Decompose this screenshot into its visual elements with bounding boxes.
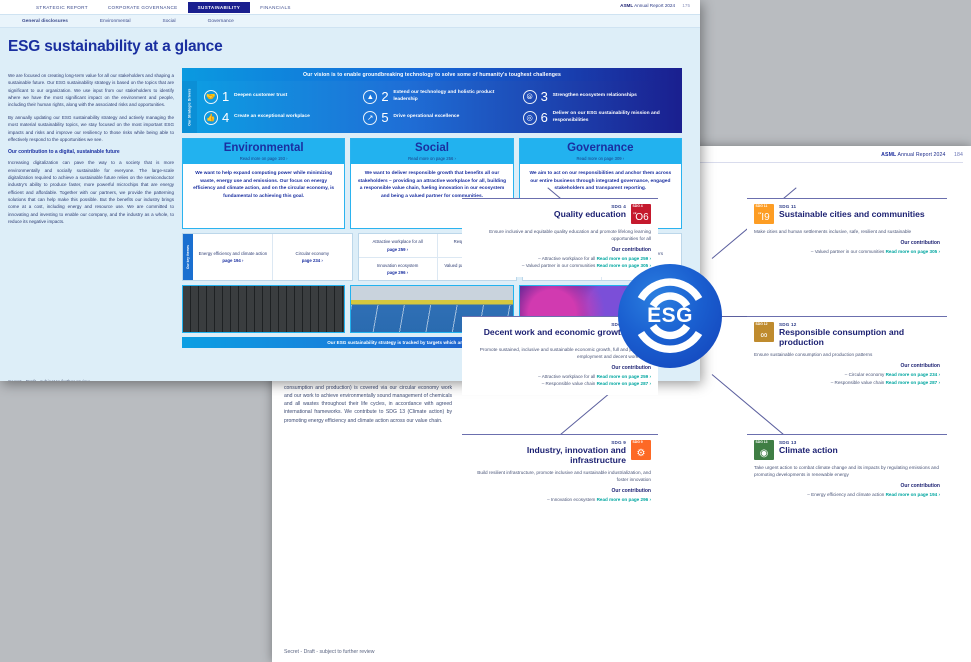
theme-page-link[interactable]: page 194 › (197, 258, 269, 263)
sdg-card-11-name: Sustainable cities and communities (779, 209, 925, 219)
sdg-card-11-link-1[interactable]: – Valued partner in our communities Read… (754, 248, 940, 255)
sdg-card-12-description: Ensure sustainable consumption and produ… (754, 351, 940, 358)
driver-5[interactable]: ↗ 5 Drive operational excellence (359, 107, 518, 128)
solar-panel-texture (183, 286, 344, 332)
driver-4-number: 4 (222, 111, 230, 124)
city-icon: Ἵ9 (754, 213, 774, 223)
subnav-item-governance[interactable]: Governance (208, 19, 248, 24)
driver-2-label: Extend our technology and holistic produ… (393, 90, 514, 102)
primary-nav: STRATEGIC REPORT CORPORATE GOVERNANCE SU… (0, 0, 700, 14)
driver-2-number: 2 (381, 90, 389, 103)
theme-column: Circular economy page 234 › (273, 234, 352, 280)
sdg-4-icon: SDG 4 Ὅ6 (631, 204, 651, 224)
network-icon: ⦾ (523, 90, 537, 104)
esg-hub-logo: ESG (618, 264, 722, 368)
pillar-environmental-head: Environmental Read more on page 193 › (183, 139, 344, 164)
handshake-icon: 🤝 (204, 90, 218, 104)
driver-2[interactable]: ▲ 2 Extend our technology and holistic p… (359, 86, 518, 107)
sdg-card-12-head: SDG 12 ∞ SDG 12 Responsible consumption … (754, 322, 940, 347)
driver-1-label: Deepen customer trust (234, 93, 287, 99)
link-prefix: – Valued partner in our communities (522, 263, 597, 268)
theme-cell-attractive-workplace[interactable]: Attractive workplace for all page 259 › (359, 234, 438, 258)
sdg-card-13-link-1[interactable]: – Energy efficiency and climate action R… (754, 491, 940, 498)
read-more-link[interactable]: Read more on page 194 › (886, 492, 940, 497)
page1-page-number: 175 (682, 3, 690, 8)
climate-icon: ◉ (754, 449, 774, 459)
theme-page-link[interactable]: page 259 › (362, 247, 434, 252)
sdg-card-9[interactable]: SDG 9 ⚙ SDG 9 Industry, innovation and i… (462, 434, 658, 511)
driver-1[interactable]: 🤝 1 Deepen customer trust (200, 86, 359, 107)
driver-6[interactable]: ◎ 6 Deliver on our ESG sustainability mi… (519, 107, 678, 128)
sdg-card-11-titles: SDG 11 Sustainable cities and communitie… (779, 204, 925, 219)
read-more-link[interactable]: Read more on page 305 › (886, 249, 940, 254)
theme-name: Attractive workplace for all (362, 239, 434, 245)
strategic-drivers-panel: Our Strategic Drivers 🤝 1 Deepen custome… (182, 81, 682, 133)
sdg-card-13-name: Climate action (779, 445, 838, 455)
sdg-card-12-link-1[interactable]: – Circular economy Read more on page 234… (754, 371, 940, 378)
sdg-card-4-contribution-label: Our contribution (469, 247, 651, 253)
driver-4[interactable]: 👍 4 Create an exceptional workplace (200, 107, 359, 128)
intro-paragraph-2: By annually updating our ESG sustainabil… (8, 114, 174, 143)
read-more-link[interactable]: Read more on page 234 › (886, 372, 940, 377)
page1-brand-name: ASML (620, 3, 633, 8)
theme-column: Energy efficiency and climate action pag… (194, 234, 273, 280)
link-prefix: – Circular economy (845, 372, 886, 377)
nav-tab-strategic-report[interactable]: STRATEGIC REPORT (26, 2, 98, 13)
pillar-environmental-title: Environmental (183, 142, 344, 155)
pillar-governance-link[interactable]: Read more on page 309 › (520, 156, 681, 161)
page2-report-name: Annual Report 2024 (898, 152, 946, 158)
theme-name: Energy efficiency and climate action (197, 251, 269, 257)
chart-up-icon: ↗ (363, 111, 377, 125)
sdg-card-8-titles: SDG 8 Decent work and economic growth (484, 322, 626, 337)
secondary-nav: General disclosures Environmental Social… (0, 14, 700, 28)
driver-3-number: 3 (541, 90, 549, 103)
link-prefix: – Attractive workplace for all (538, 256, 596, 261)
book-icon: Ὅ6 (631, 213, 651, 223)
driver-5-label: Drive operational excellence (393, 114, 459, 120)
theme-group-environmental: Our key themes Energy efficiency and cli… (182, 233, 353, 281)
layers-icon: ▲ (363, 90, 377, 104)
pillar-governance-head: Governance Read more on page 309 › (520, 139, 681, 164)
sdg-card-13-description: Take urgent action to combat climate cha… (754, 464, 940, 478)
theme-cell-energy-efficiency[interactable]: Energy efficiency and climate action pag… (194, 234, 273, 280)
page2-brand-header: ASML Annual Report 2024 184 (881, 152, 963, 158)
pillar-environmental-body: We want to help expand computing power w… (183, 164, 344, 228)
page2-footer-note: Secret - Draft - subject to further revi… (284, 649, 375, 655)
pillar-social-head: Social Read more on page 256 › (351, 139, 512, 164)
page-title-band: ESG sustainability at a glance (0, 28, 700, 66)
intro-paragraph-1: We are focused on creating long-term val… (8, 72, 174, 109)
strategic-drivers-side-label: Our Strategic Drivers (182, 81, 197, 133)
themes-side-text: Our key themes (186, 245, 190, 269)
sdg-card-4-head: SDG 4 Ὅ6 SDG 4 Quality education (469, 204, 651, 224)
read-more-link[interactable]: Read more on page 287 › (886, 380, 940, 385)
theme-page-link[interactable]: page 234 › (276, 258, 349, 263)
sdg-card-4-titles: SDG 4 Quality education (554, 204, 626, 219)
sdg-card-9-head: SDG 9 ⚙ SDG 9 Industry, innovation and i… (469, 440, 651, 465)
sdg-card-12-name: Responsible consumption and production (779, 327, 940, 347)
pillar-environmental[interactable]: Environmental Read more on page 193 › We… (182, 138, 345, 229)
sdg-9-icon-num: SDG 9 (633, 441, 643, 445)
theme-name: Innovation ecosystem (362, 263, 434, 269)
nav-tab-financials[interactable]: FINANCIALS (250, 2, 301, 13)
theme-cell-circular-economy[interactable]: Circular economy page 234 › (273, 234, 352, 280)
intro-paragraph-3: Increasing digitalization can pave the w… (8, 159, 174, 225)
subnav-item-general-disclosures[interactable]: General disclosures (22, 19, 82, 24)
sdg-card-8-name: Decent work and economic growth (484, 327, 626, 337)
link-prefix: – Valued partner in our communities (811, 249, 886, 254)
solar-panel-field-photo (182, 285, 345, 333)
read-more-link[interactable]: Read more on page 259 › (597, 374, 651, 379)
page2-brand-name: ASML (881, 152, 896, 158)
subnav-item-social[interactable]: Social (163, 19, 190, 24)
sdg-card-11-description: Make cities and human settlements inclus… (754, 228, 940, 235)
gear-icon: ⚙ (631, 449, 651, 459)
sdg-card-12-contribution-label: Our contribution (754, 363, 940, 369)
driver-6-label: Deliver on our ESG sustainability missio… (553, 111, 674, 123)
page2-page-number: 184 (954, 152, 963, 158)
thumbs-up-icon: 👍 (204, 111, 218, 125)
sdg-card-12-titles: SDG 12 Responsible consumption and produ… (779, 322, 940, 347)
sdg-card-13-head: SDG 13 ◉ SDG 13 Climate action (754, 440, 940, 460)
sdg-card-8-link-2[interactable]: – Responsible value chain Read more on p… (469, 380, 651, 387)
driver-1-number: 1 (222, 90, 230, 103)
nav-tab-sustainability[interactable]: SUSTAINABILITY (188, 2, 251, 13)
page1-report-name: Annual Report 2024 (634, 3, 675, 8)
intro-text-column: We are focused on creating long-term val… (8, 72, 174, 231)
sdg-contribution-diagram: ESG SDG 4 Ὅ6 SDG 4 Quality education Ens… (462, 198, 967, 638)
sdg-card-4-name: Quality education (554, 209, 626, 219)
link-prefix: – Attractive workplace for all (538, 374, 596, 379)
sdg-card-9-link-1[interactable]: – Innovation ecosystem Read more on page… (469, 496, 651, 503)
sdg-13-icon: SDG 13 ◉ (754, 440, 774, 460)
sdg-4-icon-num: SDG 4 (633, 205, 643, 209)
sdg-card-4-link-1[interactable]: – Attractive workplace for all Read more… (469, 255, 651, 262)
pillar-environmental-link[interactable]: Read more on page 193 › (183, 156, 344, 161)
subnav-item-environmental[interactable]: Environmental (100, 19, 145, 24)
sdg-11-icon-num: SDG 11 (756, 205, 768, 209)
read-more-link[interactable]: Read more on page 259 › (597, 256, 651, 261)
esg-hub-label: ESG (647, 304, 693, 328)
sdg-11-icon: SDG 11 Ἵ9 (754, 204, 774, 224)
sdg-card-9-description: Build resilient infrastructure, promote … (469, 469, 651, 483)
link-prefix: – Responsible value chain (542, 381, 597, 386)
pillar-governance-title: Governance (520, 142, 681, 155)
sdg-card-11-head: SDG 11 Ἵ9 SDG 11 Sustainable cities and … (754, 204, 940, 224)
globe-icon: ◎ (523, 111, 537, 125)
sdg-card-11[interactable]: SDG 11 Ἵ9 SDG 11 Sustainable cities and … (747, 198, 947, 262)
sdg-card-13[interactable]: SDG 13 ◉ SDG 13 Climate action Take urge… (747, 434, 947, 505)
driver-5-number: 5 (381, 111, 389, 124)
drivers-side-text: Our Strategic Drivers (187, 88, 191, 125)
theme-cell-innovation-ecosystem[interactable]: Innovation ecosystem page 296 › (359, 258, 438, 281)
nav-tab-corporate-governance[interactable]: CORPORATE GOVERNANCE (98, 2, 188, 13)
link-prefix: – Innovation ecosystem (547, 497, 597, 502)
sdg-card-9-name: Industry, innovation and infrastructure (469, 445, 626, 465)
page-title: ESG sustainability at a glance (8, 38, 223, 56)
driver-3[interactable]: ⦾ 3 Strengthen ecosystem relationships (519, 86, 678, 107)
sdg-card-4-description: Ensure inclusive and equitable quality e… (469, 228, 651, 242)
read-more-link[interactable]: Read more on page 296 › (597, 497, 651, 502)
page1-brand-header: ASML Annual Report 2024 175 (620, 3, 690, 8)
theme-page-link[interactable]: page 296 › (362, 270, 434, 275)
sdg-card-9-contribution-label: Our contribution (469, 488, 651, 494)
theme-name: Circular economy (276, 251, 349, 257)
infinity-icon: ∞ (754, 331, 774, 341)
sdg-card-8-link-1[interactable]: – Attractive workplace for all Read more… (469, 373, 651, 380)
read-more-link[interactable]: Read more on page 287 › (597, 381, 651, 386)
sdg-card-12[interactable]: SDG 12 ∞ SDG 12 Responsible consumption … (747, 316, 947, 393)
sdg-card-13-contribution-label: Our contribution (754, 483, 940, 489)
driver-3-label: Strengthen ecosystem relationships (553, 93, 637, 99)
sdg-12-icon: SDG 12 ∞ (754, 322, 774, 342)
screenshot-stage: ASML Annual Report 2024 184 represent th… (0, 0, 971, 662)
vision-statement-bar: Our vision is to enable groundbreaking t… (182, 68, 682, 81)
pillar-social-title: Social (351, 142, 512, 155)
sdg-card-11-contribution-label: Our contribution (754, 240, 940, 246)
sdg-card-9-titles: SDG 9 Industry, innovation and infrastru… (469, 440, 626, 465)
sdg-card-12-link-2[interactable]: – Responsible value chain Read more on p… (754, 379, 940, 386)
sdg-card-13-titles: SDG 13 Climate action (779, 440, 838, 455)
driver-4-label: Create an exceptional workplace (234, 114, 310, 120)
page1-footer-note: Secret - Draft - subject to further revi… (8, 379, 90, 381)
link-prefix: – Responsible value chain (831, 380, 886, 385)
driver-6-number: 6 (541, 111, 549, 124)
intro-subheading: Our contribution to a digital, sustainab… (8, 148, 174, 156)
key-themes-side-label: Our key themes (183, 234, 193, 280)
link-prefix: – Energy efficiency and climate action (807, 492, 885, 497)
sdg-12-icon-num: SDG 12 (756, 323, 768, 327)
sdg-9-icon: SDG 9 ⚙ (631, 440, 651, 460)
pillar-social-link[interactable]: Read more on page 256 › (351, 156, 512, 161)
theme-column: Attractive workplace for all page 259 › … (359, 234, 438, 280)
sdg-13-icon-num: SDG 13 (756, 441, 768, 445)
